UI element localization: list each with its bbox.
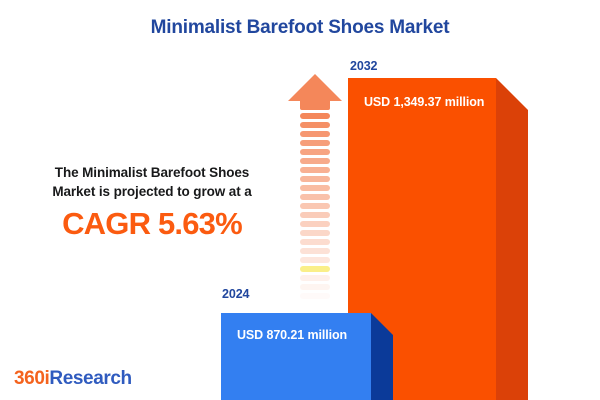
arrow-stripe	[300, 185, 330, 191]
arrow-stripe	[300, 248, 330, 254]
arrow-head	[288, 74, 342, 110]
arrow-stripe	[300, 158, 330, 164]
narrative-line-1: The Minimalist Barefoot Shoes	[26, 163, 278, 182]
arrow-stripe	[300, 203, 330, 209]
narrative-block: The Minimalist Barefoot Shoes Market is …	[26, 163, 278, 241]
arrow-stripe	[300, 302, 330, 308]
arrow-stripe	[300, 149, 330, 155]
arrow-stripe	[300, 113, 330, 119]
arrow-triangle	[288, 74, 342, 101]
arrow-stripe	[300, 221, 330, 227]
arrow-stripe	[300, 239, 330, 245]
arrow-stripe	[300, 284, 330, 290]
arrow-neck	[300, 101, 330, 110]
growth-arrow-icon	[288, 74, 342, 289]
cagr-value: CAGR 5.63%	[26, 207, 278, 241]
page-title: Minimalist Barefoot Shoes Market	[0, 17, 600, 39]
bar-2024	[221, 313, 371, 400]
value-label-2032: USD 1,349.37 million	[364, 95, 484, 109]
arrow-stripe	[300, 176, 330, 182]
logo-text-research: Research	[49, 368, 131, 389]
logo-text-360: 360	[14, 368, 45, 389]
year-label-2032: 2032	[350, 59, 377, 73]
arrow-stripe	[300, 275, 330, 281]
brand-logo: 360iResearch	[14, 368, 132, 390]
arrow-stripe	[300, 293, 330, 299]
arrow-stripe	[300, 230, 330, 236]
narrative-line-2: Market is projected to grow at a	[26, 182, 278, 201]
value-label-2024: USD 870.21 million	[237, 328, 347, 342]
arrow-stripe	[300, 140, 330, 146]
arrow-stripe	[300, 131, 330, 137]
bar-2032-side-face	[496, 78, 528, 400]
arrow-stripe	[300, 167, 330, 173]
infographic-canvas: Minimalist Barefoot Shoes Market The Min…	[0, 0, 600, 400]
arrow-stripe	[300, 194, 330, 200]
arrow-stripe	[300, 212, 330, 218]
arrow-stripe	[300, 266, 330, 272]
year-label-2024: 2024	[222, 287, 249, 301]
arrow-shaft	[300, 113, 330, 311]
arrow-stripe	[300, 257, 330, 263]
arrow-stripe	[300, 122, 330, 128]
